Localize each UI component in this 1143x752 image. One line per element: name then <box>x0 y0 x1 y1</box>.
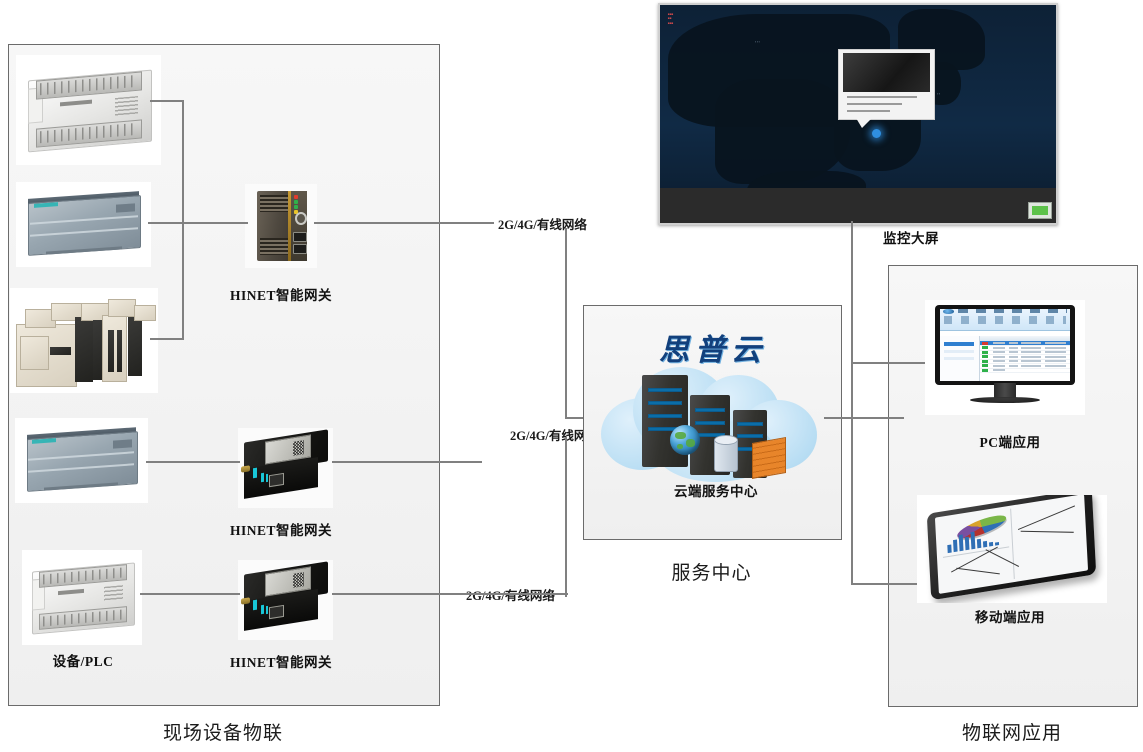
gateway-din-rail <box>245 184 317 268</box>
device-mitsubishi-plc <box>16 55 161 165</box>
panel-iot-applications-caption: 物联网应用 <box>888 718 1136 745</box>
gateway-box-2-label: HINET智能网关 <box>211 651 351 671</box>
panel-service-center-caption: 服务中心 <box>583 558 840 585</box>
cloud-service-center-label: 云端服务中心 <box>641 480 791 500</box>
gateway-box-1-label: HINET智能网关 <box>211 519 351 539</box>
mobile-application-image <box>917 495 1107 603</box>
map-callout[interactable] <box>838 49 935 121</box>
link-label-top: 2G/4G/有线网络 <box>496 214 589 233</box>
line-trunk-top <box>565 228 567 418</box>
monitoring-big-screen: ■■■■■■■■ • • • • • • • • <box>658 3 1058 225</box>
screen-legend: ■■■■■■■■ <box>668 12 673 26</box>
gateway-box-1 <box>238 428 333 508</box>
line-plc4-to-gateway2 <box>146 461 240 463</box>
database-icon <box>714 438 738 472</box>
line-apps-to-mobile <box>851 583 926 585</box>
device-modular-rack-plc <box>10 288 158 393</box>
device-siemens-plc-2 <box>15 418 148 503</box>
mobile-application-label: 移动端应用 <box>960 606 1060 626</box>
line-gateway1-out <box>314 222 494 224</box>
line-cloud-to-apps <box>824 417 904 419</box>
line-trunk-bottom-join <box>458 593 568 595</box>
line-bigscreen-to-trunk <box>851 221 853 261</box>
line-gateway2-out <box>332 461 482 463</box>
line-bus-to-gateway1 <box>148 222 248 224</box>
device-siemens-plc-1 <box>16 182 151 267</box>
globe-icon <box>670 425 700 455</box>
line-trunk-bottom <box>565 437 567 597</box>
pc-application-label: PC端应用 <box>960 431 1060 451</box>
line-collector-bus <box>182 100 184 340</box>
line-apps-to-pc <box>851 362 926 364</box>
line-plc5-to-gateway3 <box>140 593 240 595</box>
big-screen-label: 监控大屏 <box>866 227 956 247</box>
minimap-icon[interactable] <box>1028 202 1052 219</box>
cloud-logo: 思普云 <box>613 325 813 369</box>
firewall-icon <box>752 437 786 479</box>
device-group-label: 设备/PLC <box>18 650 148 670</box>
pc-application-image <box>925 300 1085 415</box>
line-plc3-to-bus <box>150 338 184 340</box>
gateway-box-2 <box>238 560 333 640</box>
gateway-din-rail-label: HINET智能网关 <box>211 284 351 304</box>
panel-field-devices-caption: 现场设备物联 <box>8 718 438 745</box>
device-mitsubishi-plc-2 <box>22 550 142 645</box>
line-gateway3-out <box>332 593 460 595</box>
line-plc1-to-bus <box>150 100 184 102</box>
